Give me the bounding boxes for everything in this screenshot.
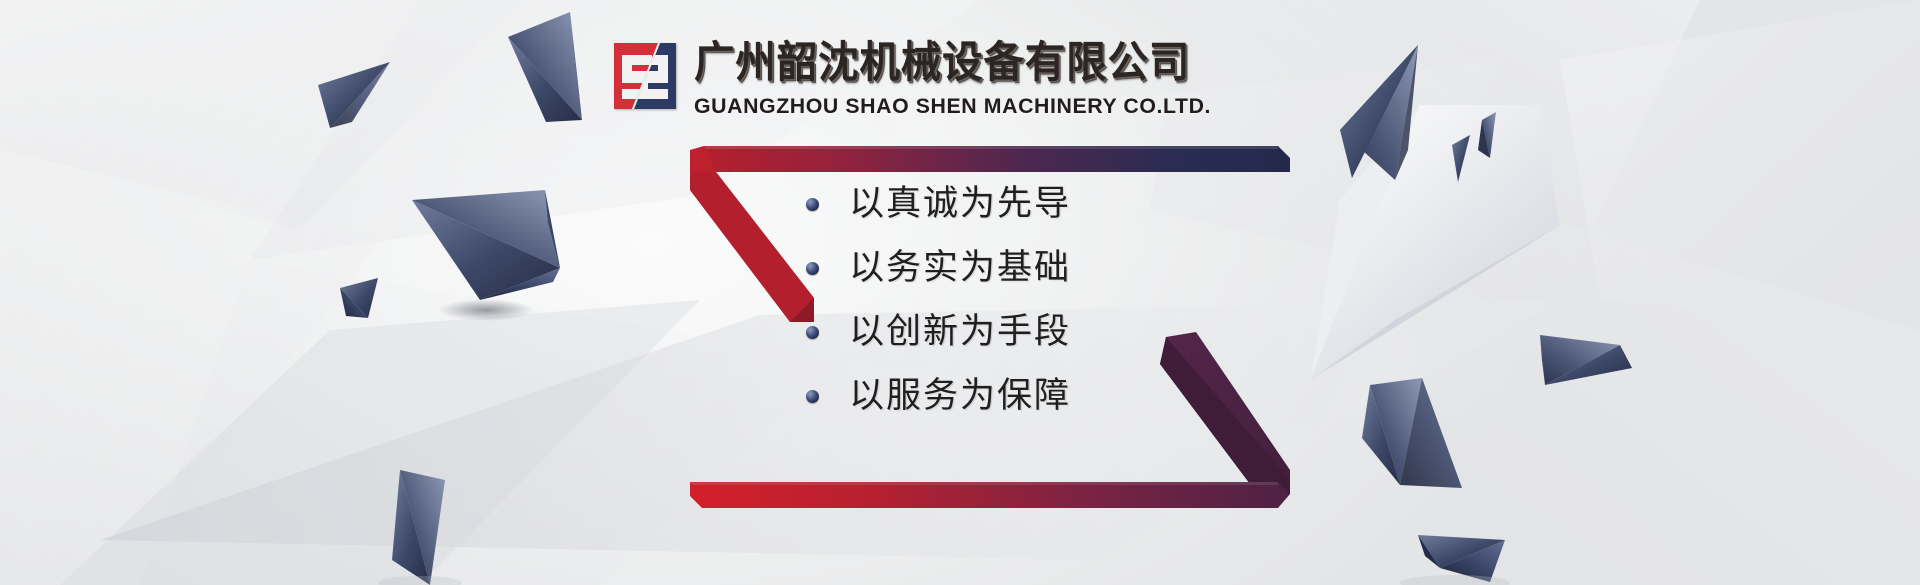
brand-text-block: 广州韶沈机械设备有限公司 GUANGZHOU SHAO SHEN MACHINE… (694, 38, 1222, 119)
company-monogram-ss-icon (614, 43, 676, 109)
slogan-text: 以务实为基础 (849, 248, 1071, 288)
brand-logo-block: 广州韶沈机械设备有限公司 GUANGZHOU SHAO SHEN MACHINE… (614, 38, 1222, 119)
polygon-shape-left-large (412, 190, 560, 300)
company-name-cn: 广州韶沈机械设备有限公司 (694, 38, 1190, 88)
navy-sphere-bullet-icon (806, 262, 819, 275)
company-name-en: GUANGZHOU SHAO SHEN MACHINERY CO.LTD. (694, 94, 1217, 119)
slogan-item: 以真诚为先导 (806, 178, 1226, 230)
navy-sphere-bullet-icon (806, 198, 819, 211)
slogan-item: 以创新为手段 (806, 306, 1226, 358)
slogan-text: 以创新为手段 (849, 312, 1071, 352)
navy-sphere-bullet-icon (806, 390, 819, 403)
slogan-item: 以服务为保障 (806, 370, 1226, 422)
navy-sphere-bullet-icon (806, 326, 819, 339)
slogan-item: 以务实为基础 (806, 242, 1226, 294)
slogan-list: 以真诚为先导 以务实为基础 以创新为手段 以服务为保障 (806, 178, 1226, 434)
slogan-text: 以真诚为先导 (849, 184, 1071, 224)
company-hero-banner: 广州韶沈机械设备有限公司 GUANGZHOU SHAO SHEN MACHINE… (0, 0, 1920, 585)
slogan-text: 以服务为保障 (849, 376, 1071, 416)
